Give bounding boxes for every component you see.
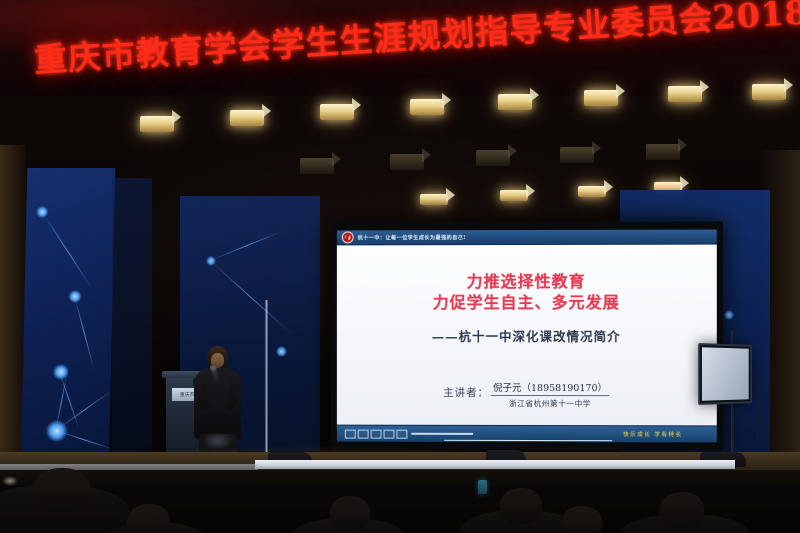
- projection-screen: 杭十一中：让每一位学生成长为最强的自己! 力推选择性教育 力促学生自主、多元发展…: [331, 221, 723, 450]
- stage-light: [140, 116, 174, 132]
- network-edge: [55, 389, 113, 431]
- monitor-cable: [742, 372, 760, 450]
- presenter-name: 倪子元（18958190170）: [491, 380, 609, 395]
- footer-rule: [411, 433, 473, 435]
- slide-title-line-2: 力促学生自主、多元发展: [353, 292, 701, 313]
- presenter-block: 主讲者： 倪子元（18958190170） 浙江省杭州第十一中学: [337, 380, 717, 410]
- audience-head: [562, 506, 602, 533]
- footer-block: [396, 429, 407, 438]
- audience-head: [500, 488, 542, 524]
- microphone-stand: [265, 300, 268, 460]
- slide-header-bar: 杭十一中：让每一位学生成长为最强的自己!: [337, 230, 717, 246]
- audience-head: [660, 492, 704, 528]
- stage-light: [498, 94, 532, 110]
- presenter-label: 主讲者：: [443, 380, 489, 400]
- stage-light: [320, 104, 354, 120]
- network-edge: [210, 230, 285, 261]
- school-motto: 快乐成长 学有特长: [623, 430, 682, 438]
- backdrop-panel-left: [21, 168, 115, 478]
- network-edge: [56, 430, 113, 449]
- stage-light: [668, 86, 702, 102]
- slide-title-line-1: 力推选择性教育: [467, 272, 586, 291]
- footer-block: [384, 429, 395, 438]
- footer-block: [358, 429, 369, 438]
- network-edge: [42, 212, 93, 289]
- slide-footer-bar: 快乐成长 学有特长: [337, 425, 717, 443]
- network-node: [724, 310, 734, 320]
- footer-block: [345, 429, 356, 438]
- stage-light-dim: [390, 154, 424, 170]
- event-banner: 重庆市教育学会学生生涯规划指导专业委员会2018学: [0, 0, 800, 96]
- presenter-organization: 浙江省杭州第十一中学: [509, 396, 591, 409]
- stage-light: [584, 90, 618, 106]
- audience-head: [126, 510, 162, 533]
- slide-header-text: 杭十一中：让每一位学生成长为最强的自己!: [358, 234, 466, 241]
- network-edge: [74, 296, 94, 369]
- lens-flare: [2, 476, 18, 486]
- footer-block: [371, 429, 382, 438]
- stage-light-dim: [646, 144, 680, 160]
- stage-photograph: 重庆市教育学会学生生涯规划指导专业委员会2018学: [0, 0, 800, 533]
- slide-body: 力推选择性教育 力促学生自主、多元发展 ——杭十一中深化课改情况简介 主讲者： …: [337, 245, 717, 426]
- stage-light-dim: [560, 147, 594, 163]
- network-node: [276, 346, 287, 357]
- backdrop-panel-left-secondary: [112, 178, 152, 478]
- audience-phone: [478, 480, 487, 494]
- footer-underline: [444, 439, 612, 441]
- slide-subtitle: ——杭十一中深化课改情况简介: [353, 326, 701, 345]
- stage-light: [410, 99, 444, 115]
- stage-light: [752, 84, 786, 100]
- stage-light: [578, 186, 606, 197]
- lighting-truss-row-1: [0, 86, 800, 140]
- footer-decoration: [345, 429, 473, 438]
- stage-light: [500, 190, 528, 201]
- stage-light-dim: [476, 150, 510, 166]
- stage-light-dim: [300, 158, 334, 174]
- audience-foreground: [0, 470, 800, 533]
- school-crest-icon: [342, 231, 354, 243]
- network-edge: [210, 260, 292, 334]
- stage-light: [230, 110, 264, 126]
- stage-edge-lip: [255, 460, 735, 469]
- stage-light: [420, 194, 448, 205]
- slide-title: 力推选择性教育 力促学生自主、多元发展: [353, 271, 701, 314]
- audience-head: [330, 496, 370, 530]
- audience-head: [34, 468, 90, 512]
- presenter-details: 倪子元（18958190170） 浙江省杭州第十一中学: [491, 380, 609, 409]
- presentation-slide: 杭十一中：让每一位学生成长为最强的自己! 力推选择性教育 力促学生自主、多元发展…: [337, 230, 717, 443]
